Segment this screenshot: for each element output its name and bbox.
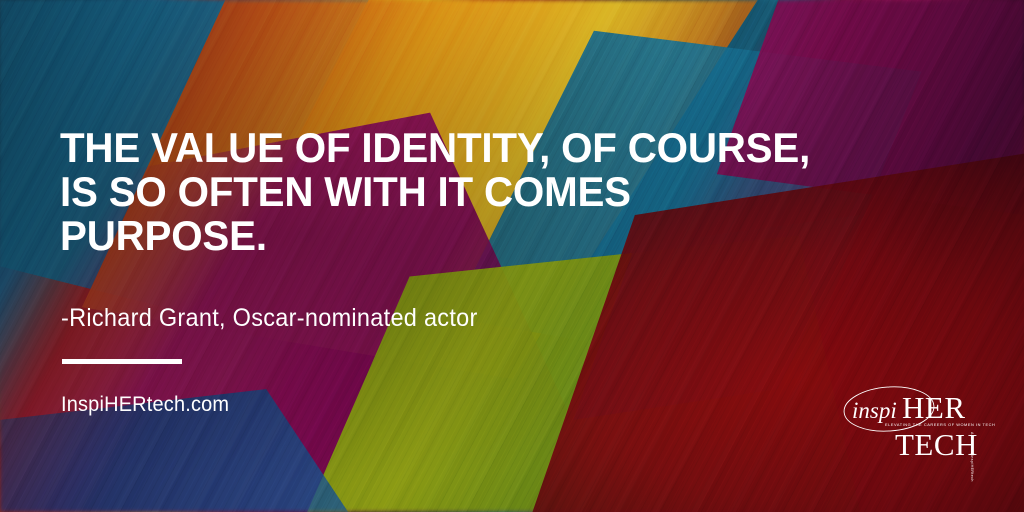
- quote-attribution: -Richard Grant, Oscar-nominated actor: [61, 303, 478, 333]
- logo-her-word: HER: [902, 390, 966, 425]
- divider-rule: [62, 359, 182, 364]
- logo-vertical-mark: A Brand Of InspiHERtech: [970, 432, 974, 482]
- site-url: InspiHERtech.com: [61, 392, 229, 418]
- content-overlay: THE VALUE OF IDENTITY, OF COURSE, IS SO …: [0, 0, 1024, 512]
- quote-graphic-canvas: THE VALUE OF IDENTITY, OF COURSE, IS SO …: [0, 0, 1024, 512]
- quote-text: THE VALUE OF IDENTITY, OF COURSE, IS SO …: [60, 126, 924, 258]
- logo-script-word: inspi: [852, 398, 897, 423]
- logo-tech-word: TECH: [895, 427, 978, 462]
- inspihertech-logo: inspi HER ELEVATING THE CAREERS OF WOMEN…: [838, 376, 988, 462]
